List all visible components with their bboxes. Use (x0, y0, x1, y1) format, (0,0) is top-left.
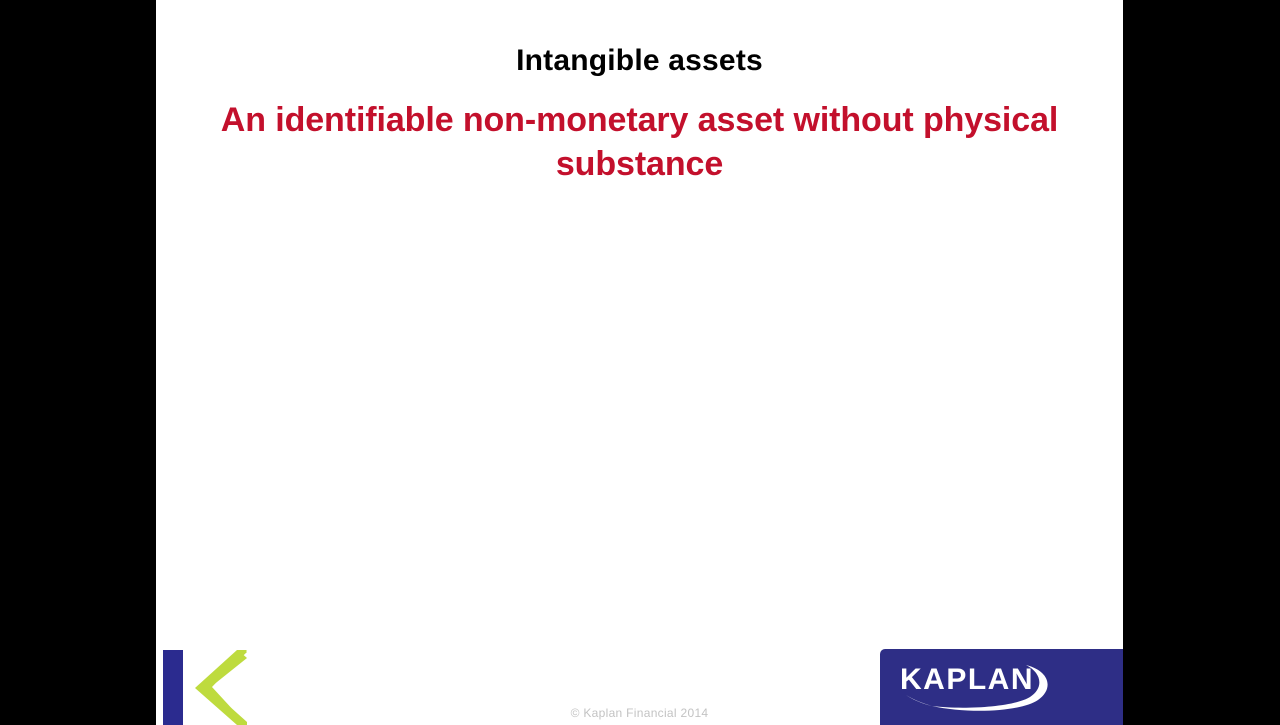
presentation-slide: Intangible assets An identifiable non-mo… (156, 0, 1123, 725)
slide-statement-text: An identifiable non-monetary asset witho… (216, 98, 1063, 186)
kaplan-logo-panel: KAPLAN (880, 649, 1123, 725)
video-slide-viewer: Intangible assets An identifiable non-mo… (0, 0, 1280, 725)
kaplan-logo: KAPLAN (898, 659, 1073, 715)
blue-bar-icon (163, 650, 183, 725)
page-title: Intangible assets (156, 44, 1123, 77)
green-chevron-icon (195, 650, 247, 725)
letterbox-left (0, 0, 156, 725)
kaplan-wordmark: KAPLAN (900, 663, 1034, 697)
letterbox-right (1123, 0, 1280, 725)
kaplan-chevron-mark (163, 650, 263, 725)
